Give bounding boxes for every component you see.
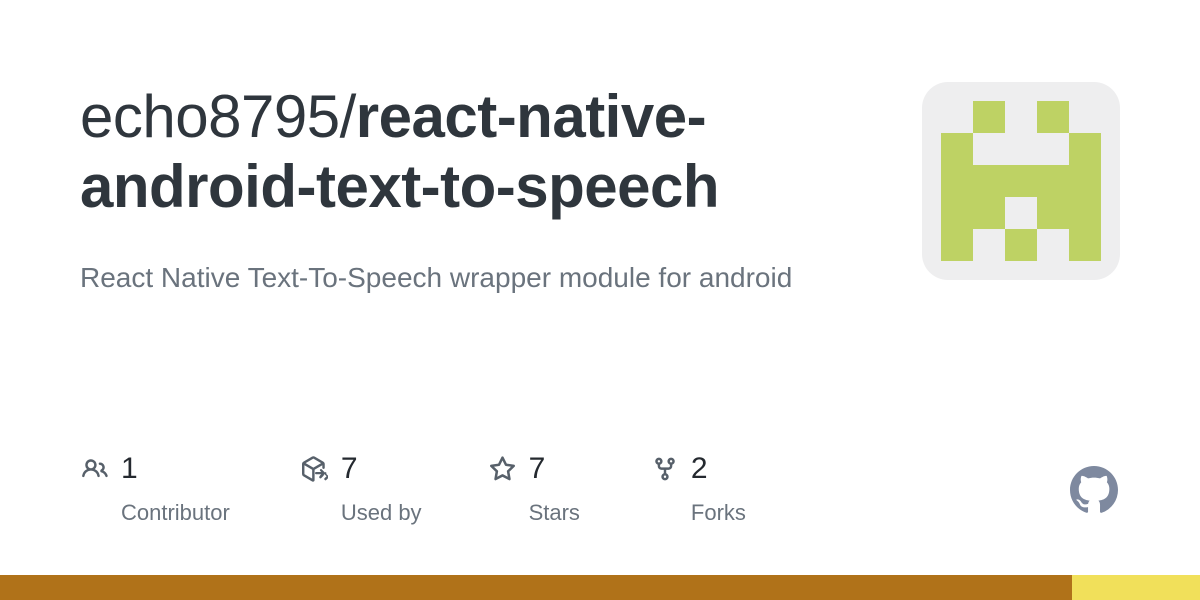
github-mark-icon: [1070, 466, 1118, 514]
stat-used-by-top: 7: [300, 452, 422, 486]
people-icon: [80, 454, 110, 484]
identicon-cell: [941, 197, 973, 229]
identicon-cell: [973, 229, 1005, 261]
identicon-cell: [1005, 165, 1037, 197]
identicon-cell: [941, 101, 973, 133]
stats-row: 1 Contributor 7 Used by: [80, 452, 1120, 524]
stat-stars[interactable]: 7 Stars: [488, 452, 580, 524]
stat-contributors-label: Contributor: [121, 502, 230, 524]
identicon-cell: [1037, 229, 1069, 261]
stat-forks[interactable]: 2 Forks: [650, 452, 746, 524]
identicon-cell: [1037, 197, 1069, 229]
identicon-cell: [973, 165, 1005, 197]
stat-contributors[interactable]: 1 Contributor: [80, 452, 230, 524]
avatar: [922, 82, 1120, 280]
identicon-cell: [1005, 101, 1037, 133]
identicon-cell: [1037, 101, 1069, 133]
stat-forks-top: 2: [650, 452, 746, 486]
identicon-cell: [941, 133, 973, 165]
stat-forks-label: Forks: [691, 502, 746, 524]
stat-contributors-value: 1: [121, 454, 138, 484]
package-used-by-icon: [300, 454, 330, 484]
stat-stars-label: Stars: [529, 502, 580, 524]
language-segment-javascript: [1072, 575, 1200, 600]
stat-used-by-value: 7: [341, 454, 358, 484]
repository-social-card: echo8795/react-native-android-text-to-sp…: [0, 0, 1200, 600]
title-block: echo8795/react-native-android-text-to-sp…: [80, 82, 840, 302]
identicon-cell: [973, 133, 1005, 165]
identicon-cell: [1069, 101, 1101, 133]
stat-stars-top: 7: [488, 452, 580, 486]
identicon-avatar: [941, 101, 1101, 261]
identicon-cell: [1037, 133, 1069, 165]
identicon-cell: [1069, 133, 1101, 165]
identicon-cell: [1005, 197, 1037, 229]
stat-forks-value: 2: [691, 454, 708, 484]
identicon-cell: [1005, 133, 1037, 165]
stat-stars-value: 7: [529, 454, 546, 484]
page-title: echo8795/react-native-android-text-to-sp…: [80, 82, 840, 222]
language-bar: [0, 575, 1200, 600]
star-icon: [488, 454, 518, 484]
identicon-cell: [1069, 165, 1101, 197]
identicon-cell: [1037, 165, 1069, 197]
identicon-cell: [1069, 229, 1101, 261]
identicon-cell: [1069, 197, 1101, 229]
identicon-cell: [941, 229, 973, 261]
repo-owner: echo8795: [80, 83, 340, 150]
stat-contributors-top: 1: [80, 452, 230, 486]
language-segment-java: [0, 575, 1072, 600]
stat-used-by[interactable]: 7 Used by: [300, 452, 422, 524]
identicon-cell: [1005, 229, 1037, 261]
stat-used-by-label: Used by: [341, 502, 422, 524]
card-header: echo8795/react-native-android-text-to-sp…: [80, 82, 1120, 302]
repo-forked-icon: [650, 454, 680, 484]
repo-separator: /: [340, 83, 356, 150]
repo-description: React Native Text-To-Speech wrapper modu…: [80, 222, 840, 302]
identicon-cell: [973, 197, 1005, 229]
identicon-cell: [941, 165, 973, 197]
identicon-cell: [973, 101, 1005, 133]
